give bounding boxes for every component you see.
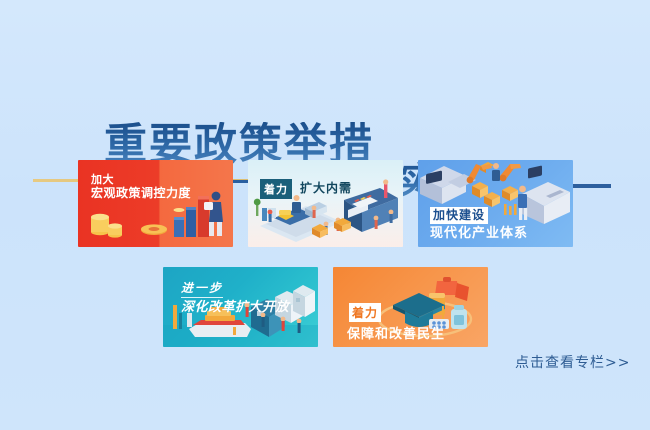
card-5-badge: 着力	[349, 303, 381, 322]
banner-root: 重要政策举措 及实施效果	[0, 0, 650, 430]
card-1-caption: 加大 宏观政策调控力度	[91, 173, 191, 201]
card-modern-industry[interactable]: 加快建设 现代化产业体系	[418, 160, 573, 247]
card-4-line1: 进一步	[181, 281, 223, 298]
card-3-line2: 现代化产业体系	[430, 226, 528, 242]
card-3-line1: 加快建设	[430, 207, 488, 224]
card-4-line2: 深化改革扩大开放	[181, 300, 289, 316]
card-4-caption: 进一步 深化改革扩大开放	[181, 277, 289, 315]
card-macro-policy[interactable]: 加大 宏观政策调控力度	[78, 160, 233, 247]
view-column-link[interactable]: 点击查看专栏>>	[515, 352, 630, 372]
card-3-caption: 加快建设 现代化产业体系	[430, 204, 528, 241]
card-peoples-livelihood[interactable]: 着力 保障和改善民生	[333, 267, 488, 347]
card-2-badge: 着力	[260, 179, 292, 199]
card-5-line2: 保障和改善民生	[347, 323, 445, 342]
card-2-line2: 扩大内需	[300, 179, 352, 196]
card-reform-opening[interactable]: 进一步 深化改革扩大开放	[163, 267, 318, 347]
card-1-line2: 宏观政策调控力度	[91, 186, 191, 201]
card-1-line1: 加大	[91, 173, 191, 186]
illustration-city-commerce	[248, 160, 403, 247]
card-domestic-demand[interactable]: 着力 扩大内需	[248, 160, 403, 247]
